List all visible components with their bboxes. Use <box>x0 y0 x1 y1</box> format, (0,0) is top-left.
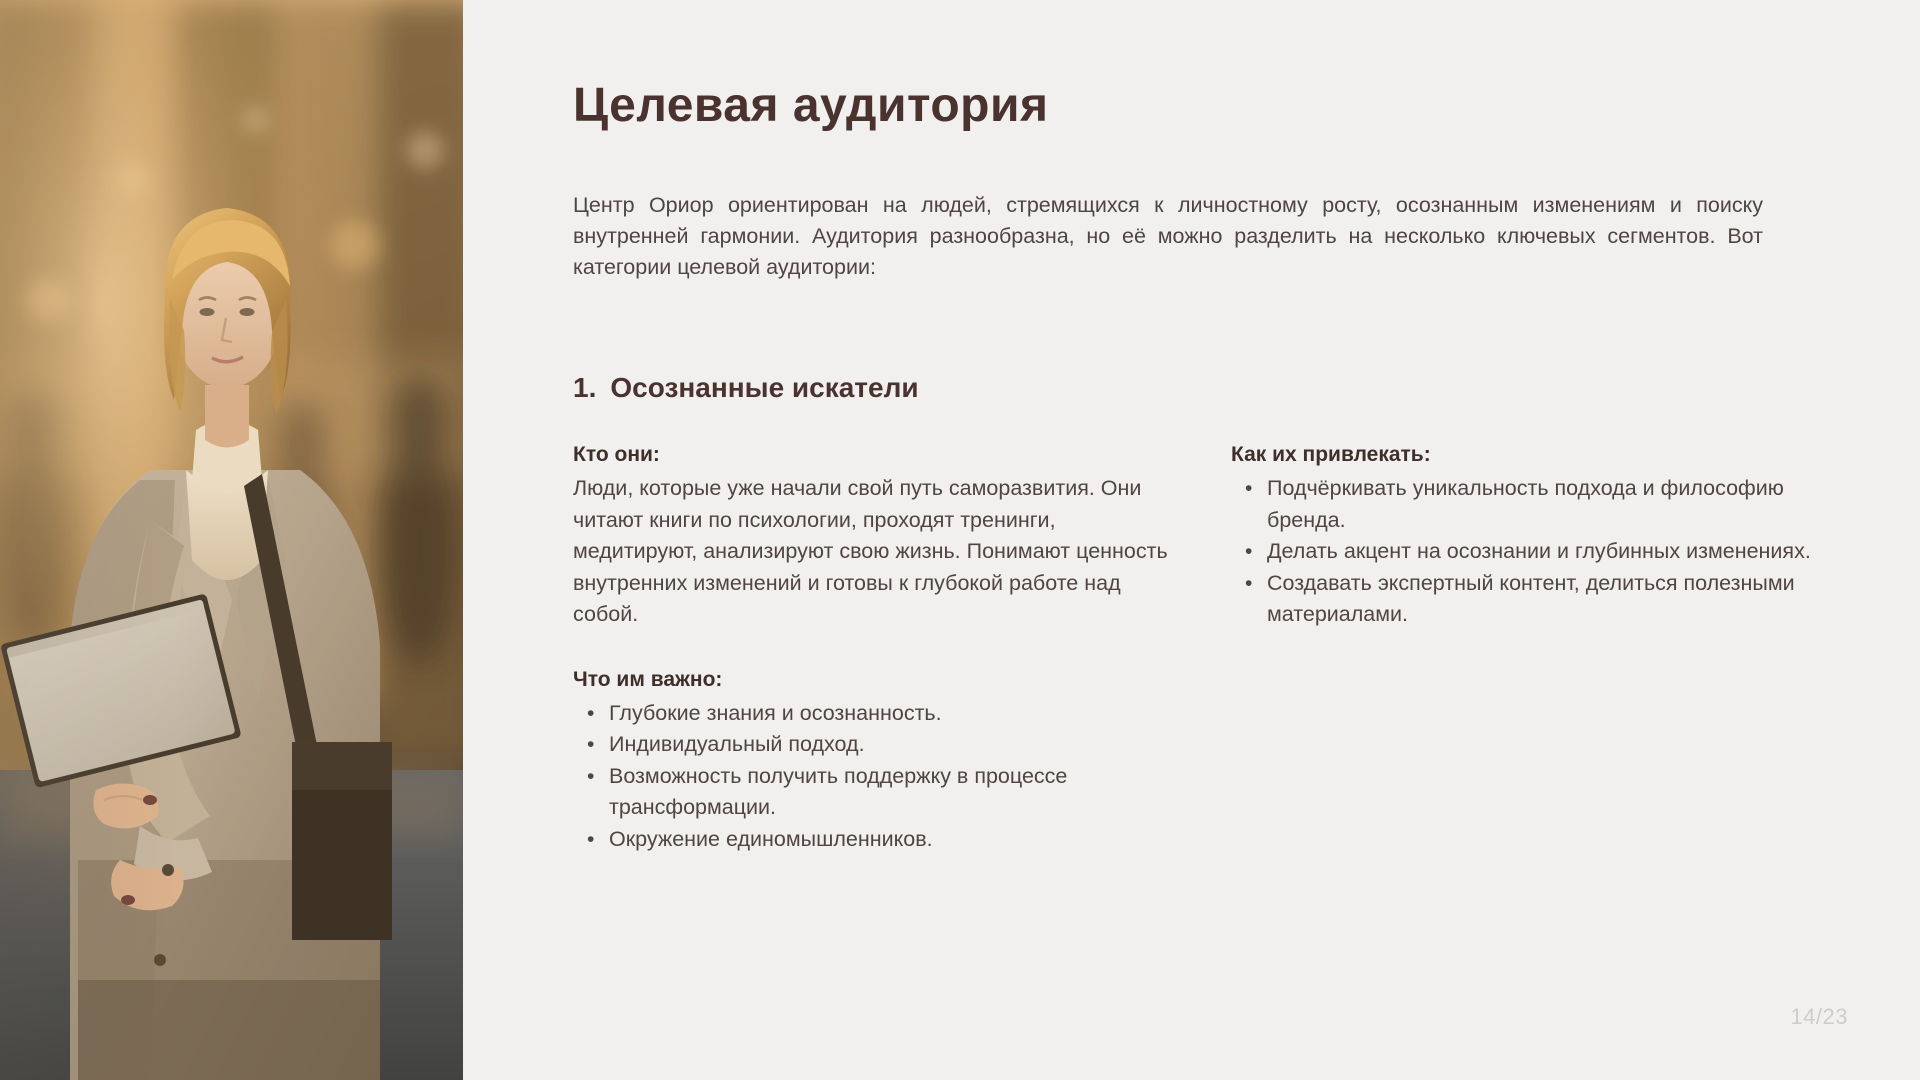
section-heading-text: Осознанные искатели <box>610 372 918 403</box>
section-number: 1. <box>573 372 596 403</box>
list-item: Индивидуальный подход. <box>609 729 1173 761</box>
block-how-to-attract: Как их привлекать: Подчёркивать уникальн… <box>1231 440 1831 631</box>
block-who-they-are: Кто они: Люди, которые уже начали свой п… <box>573 440 1173 631</box>
list-item: Делать акцент на осознании и глубинных и… <box>1267 536 1831 568</box>
attract-list: Подчёркивать уникальность подхода и фило… <box>1231 473 1831 631</box>
page-title: Целевая аудитория <box>573 78 1049 133</box>
photo-illustration <box>0 0 463 1080</box>
list-item: Подчёркивать уникальность подхода и фило… <box>1267 473 1831 536</box>
list-item: Возможность получить поддержку в процесс… <box>609 761 1173 824</box>
slide-content: Целевая аудитория Центр Ориор ориентиров… <box>463 0 1920 1080</box>
slide-photo <box>0 0 463 1080</box>
slide: Целевая аудитория Центр Ориор ориентиров… <box>0 0 1920 1080</box>
section-heading: 1.Осознанные искатели <box>573 372 919 404</box>
page-number: 14/23 <box>1790 1004 1848 1030</box>
values-title: Что им важно: <box>573 665 1173 695</box>
intro-paragraph: Центр Ориор ориентирован на людей, стрем… <box>573 190 1763 283</box>
column-left: Кто они: Люди, которые уже начали свой п… <box>573 440 1173 855</box>
who-text: Люди, которые уже начали свой путь самор… <box>573 473 1173 631</box>
column-right: Как их привлекать: Подчёркивать уникальн… <box>1231 440 1831 855</box>
block-what-matters: Что им важно: Глубокие знания и осознанн… <box>573 665 1173 856</box>
columns-wrapper: Кто они: Люди, которые уже начали свой п… <box>573 440 1883 855</box>
list-item: Окружение единомышленников. <box>609 824 1173 856</box>
list-item: Глубокие знания и осознанность. <box>609 698 1173 730</box>
values-list: Глубокие знания и осознанность. Индивиду… <box>573 698 1173 856</box>
list-item: Создавать экспертный контент, делиться п… <box>1267 568 1831 631</box>
who-title: Кто они: <box>573 440 1173 470</box>
attract-title: Как их привлекать: <box>1231 440 1831 470</box>
